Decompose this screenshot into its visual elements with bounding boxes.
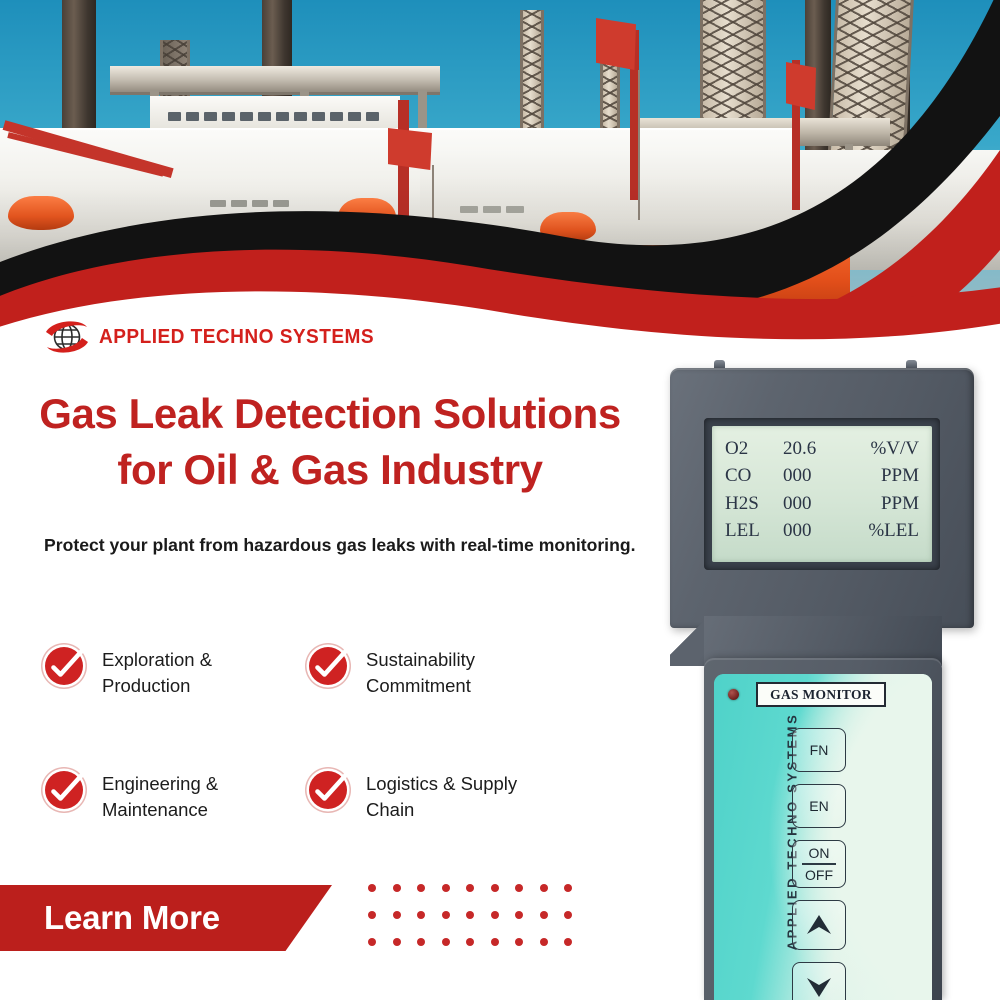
lcd-gas-value: 000 xyxy=(783,490,855,517)
check-circle-icon xyxy=(308,646,350,688)
list-item-label: Exploration & Production xyxy=(102,643,294,700)
promo-poster: THIS CYCLE I GON 8104 xyxy=(0,0,1000,1000)
lcd-reading-row: H2S 000 PPM xyxy=(725,490,919,517)
list-item-label: Sustainability Commitment xyxy=(366,643,558,700)
lcd-gas-unit: PPM xyxy=(855,490,919,517)
keypad-buttons: FN EN ON OFF xyxy=(792,728,854,1000)
up-button[interactable] xyxy=(792,900,846,950)
learn-more-label: Learn More xyxy=(0,899,220,937)
check-circle-icon xyxy=(308,770,350,812)
brand-name: APPLIED TECHNO SYSTEMS xyxy=(99,325,374,349)
on-label: ON xyxy=(809,845,830,861)
lcd-gas-value: 20.6 xyxy=(783,435,855,462)
check-circle-icon xyxy=(44,646,86,688)
list-item-label: Engineering & Maintenance xyxy=(102,767,294,824)
lcd-reading-row: O2 20.6 %V/V xyxy=(725,435,919,462)
list-item: Engineering & Maintenance xyxy=(44,767,294,891)
brand-logo[interactable]: APPLIED TECHNO SYSTEMS xyxy=(44,316,395,358)
arrow-up-icon xyxy=(804,912,834,938)
globe-orbit-icon xyxy=(44,316,90,358)
on-off-divider xyxy=(802,863,836,865)
lcd-gas-value: 000 xyxy=(783,517,855,544)
lcd-gas-name: H2S xyxy=(725,490,783,517)
page-title: Gas Leak Detection Solutions for Oil & G… xyxy=(0,386,660,498)
wave-divider xyxy=(0,0,1000,340)
lcd-gas-name: CO xyxy=(725,462,783,489)
gas-monitor-device: O2 20.6 %V/V CO 000 PPM H2S 000 PPM LEL … xyxy=(658,358,1000,1000)
lcd-reading-row: LEL 000 %LEL xyxy=(725,517,919,544)
headline-line-1: Gas Leak Detection Solutions xyxy=(0,386,660,442)
feature-list: Exploration & Production Sustainability … xyxy=(44,643,564,891)
power-led-icon xyxy=(728,689,739,700)
subtitle: Protect your plant from hazardous gas le… xyxy=(44,533,644,559)
list-item: Logistics & Supply Chain xyxy=(308,767,558,891)
device-keypad: GAS MONITOR APPLIED TECHNO SYSTEMS FN EN… xyxy=(714,674,932,1000)
lcd-gas-name: LEL xyxy=(725,517,783,544)
lcd-bezel: O2 20.6 %V/V CO 000 PPM H2S 000 PPM LEL … xyxy=(704,418,940,570)
en-button[interactable]: EN xyxy=(792,784,846,828)
lcd-reading-row: CO 000 PPM xyxy=(725,462,919,489)
check-circle-icon xyxy=(44,770,86,812)
headline-line-2: for Oil & Gas Industry xyxy=(0,442,660,498)
arrow-down-icon xyxy=(804,974,834,1000)
lcd-gas-unit: PPM xyxy=(855,462,919,489)
lcd-display: O2 20.6 %V/V CO 000 PPM H2S 000 PPM LEL … xyxy=(712,426,932,562)
on-off-button[interactable]: ON OFF xyxy=(792,840,846,888)
dot-grid-decoration xyxy=(368,884,589,965)
device-panel-title: GAS MONITOR xyxy=(756,682,886,707)
down-button[interactable] xyxy=(792,962,846,1000)
list-item: Exploration & Production xyxy=(44,643,294,767)
lcd-gas-unit: %LEL xyxy=(855,517,919,544)
off-label: OFF xyxy=(805,867,833,883)
lcd-gas-value: 000 xyxy=(783,462,855,489)
lcd-gas-name: O2 xyxy=(725,435,783,462)
fn-button[interactable]: FN xyxy=(792,728,846,772)
learn-more-button[interactable]: Learn More xyxy=(0,885,332,951)
lcd-gas-unit: %V/V xyxy=(855,435,919,462)
list-item-label: Logistics & Supply Chain xyxy=(366,767,558,824)
list-item: Sustainability Commitment xyxy=(308,643,558,767)
